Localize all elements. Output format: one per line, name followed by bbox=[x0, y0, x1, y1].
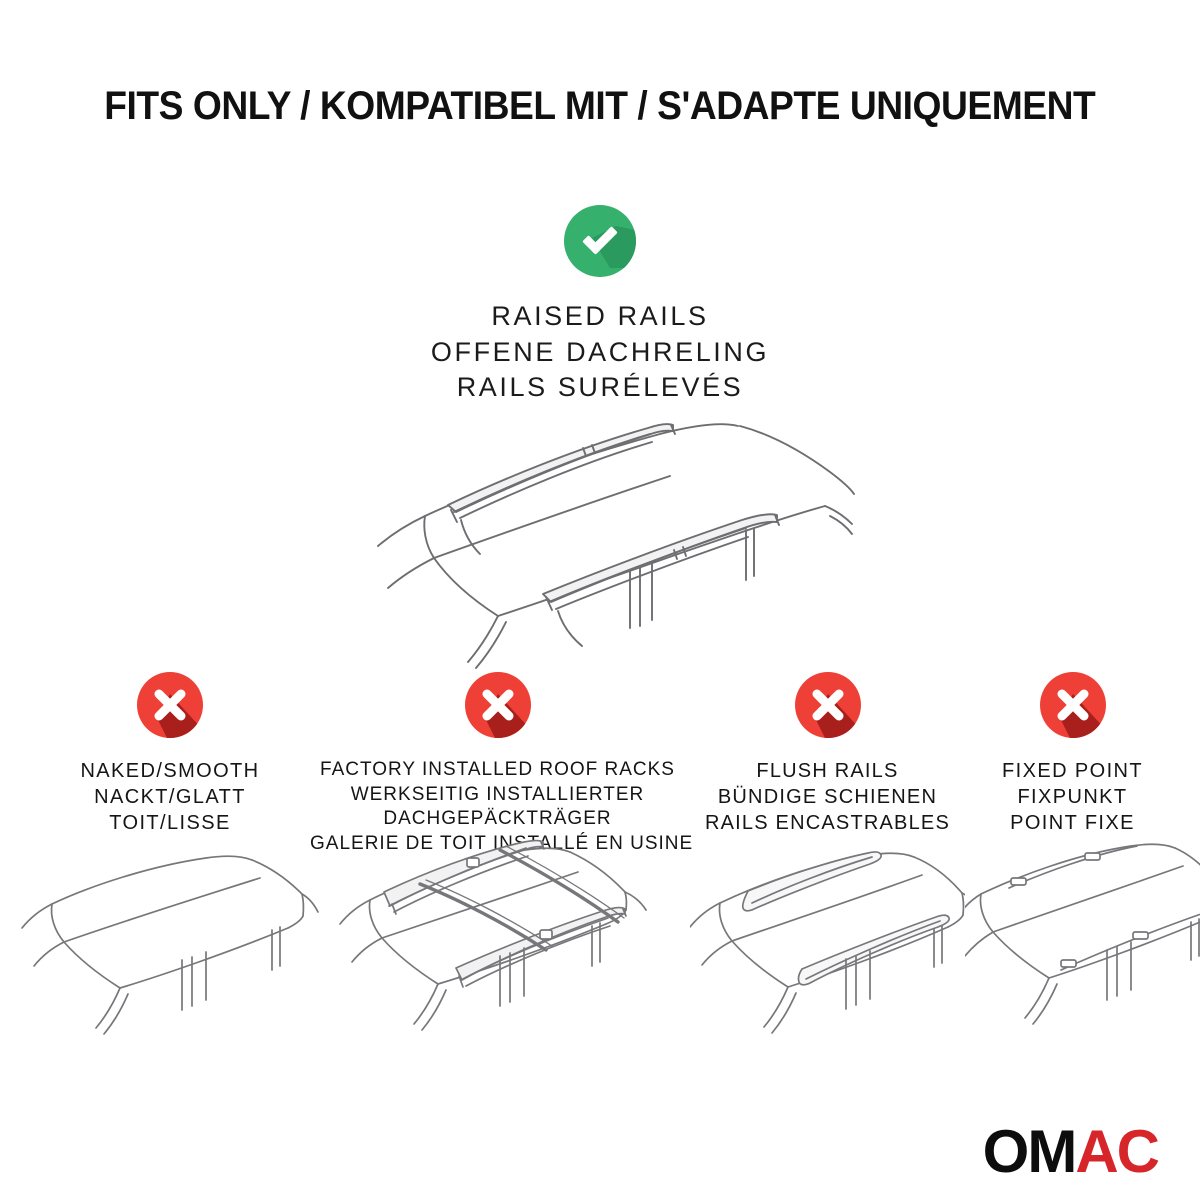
omac-logo: OMAC bbox=[983, 1122, 1158, 1182]
incompatible-label-line3: RAILS ENCASTRABLES bbox=[690, 810, 965, 836]
omac-logo-dark-part: OM bbox=[983, 1118, 1076, 1185]
incompatible-column-flush-rails: FLUSH RAILS BÜNDIGE SCHIENEN RAILS ENCAS… bbox=[690, 672, 965, 836]
compatible-labels: RAISED RAILS OFFENE DACHRELING RAILS SUR… bbox=[0, 299, 1200, 406]
car-roof-naked-smooth-illustration bbox=[20, 842, 320, 1052]
icon-wrap bbox=[20, 672, 320, 750]
incompatible-labels: FLUSH RAILS BÜNDIGE SCHIENEN RAILS ENCAS… bbox=[690, 758, 965, 836]
icon-wrap bbox=[690, 672, 965, 750]
page-title: FITS ONLY / KOMPATIBEL MIT / S'ADAPTE UN… bbox=[0, 84, 1200, 129]
omac-logo-red-part: AC bbox=[1075, 1118, 1158, 1185]
compatible-label-de: OFFENE DACHRELING bbox=[0, 335, 1200, 371]
green-check-icon bbox=[564, 205, 636, 277]
compatible-section: RAISED RAILS OFFENE DACHRELING RAILS SUR… bbox=[0, 205, 1200, 406]
car-roof-factory-roof-racks-illustration bbox=[310, 822, 685, 1052]
incompatible-label-line1: FIXED POINT bbox=[965, 758, 1180, 784]
incompatible-labels: NAKED/SMOOTH NACKT/GLATT TOIT/LISSE bbox=[20, 758, 320, 836]
red-x-icon bbox=[1040, 672, 1106, 738]
incompatible-label-line2: NACKT/GLATT bbox=[20, 784, 320, 810]
incompatible-section: NAKED/SMOOTH NACKT/GLATT TOIT/LISSE bbox=[0, 672, 1200, 1102]
red-x-icon bbox=[795, 672, 861, 738]
incompatible-label-line1: FACTORY INSTALLED ROOF RACKS bbox=[310, 758, 685, 783]
page-title-text: FITS ONLY / KOMPATIBEL MIT / S'ADAPTE UN… bbox=[104, 84, 1095, 129]
icon-wrap bbox=[965, 672, 1180, 750]
incompatible-label-line1: FLUSH RAILS bbox=[690, 758, 965, 784]
red-x-icon bbox=[137, 672, 203, 738]
compatible-label-en: RAISED RAILS bbox=[0, 299, 1200, 335]
car-roof-raised-rails-illustration bbox=[330, 398, 870, 688]
car-roof-flush-rails-illustration bbox=[690, 837, 965, 1047]
incompatible-column-fixed-point: FIXED POINT FIXPUNKT POINT FIXE bbox=[965, 672, 1180, 836]
incompatible-labels: FIXED POINT FIXPUNKT POINT FIXE bbox=[965, 758, 1180, 836]
incompatible-label-line3: TOIT/LISSE bbox=[20, 810, 320, 836]
incompatible-label-line2: FIXPUNKT bbox=[965, 784, 1180, 810]
incompatible-label-line1: NAKED/SMOOTH bbox=[20, 758, 320, 784]
incompatible-label-line2: WERKSEITIG INSTALLIERTER bbox=[310, 783, 685, 808]
incompatible-column-naked-smooth: NAKED/SMOOTH NACKT/GLATT TOIT/LISSE bbox=[20, 672, 320, 836]
incompatible-label-line2: BÜNDIGE SCHIENEN bbox=[690, 784, 965, 810]
incompatible-column-factory-roof-racks: FACTORY INSTALLED ROOF RACKS WERKSEITIG … bbox=[310, 672, 685, 857]
red-x-icon bbox=[465, 672, 531, 738]
car-roof-fixed-point-illustration bbox=[965, 832, 1180, 1042]
icon-wrap bbox=[310, 672, 685, 750]
